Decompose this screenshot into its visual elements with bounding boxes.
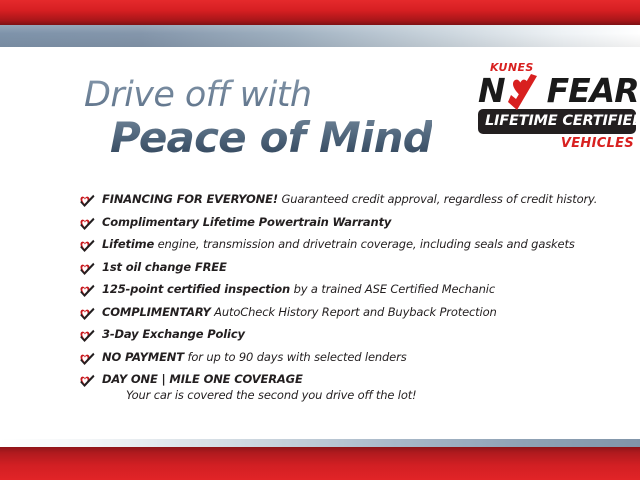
heart-check-icon bbox=[78, 217, 95, 232]
benefit-item: Lifetime engine, transmission and drivet… bbox=[78, 237, 578, 254]
benefit-text: DAY ONE | MILE ONE COVERAGE bbox=[102, 372, 417, 387]
heart-check-icon bbox=[78, 329, 95, 344]
bottom-red-bar bbox=[0, 447, 640, 480]
benefit-item: COMPLIMENTARY AutoCheck History Report a… bbox=[78, 305, 578, 322]
benefit-text-bold: COMPLIMENTARY bbox=[102, 305, 211, 319]
benefit-text: 3-Day Exchange Policy bbox=[102, 327, 245, 342]
benefit-text: 1st oil change FREE bbox=[102, 260, 227, 275]
benefit-text: Lifetime engine, transmission and drivet… bbox=[102, 237, 575, 252]
heart-check-icon bbox=[78, 194, 95, 209]
benefit-text-bold: FINANCING FOR EVERYONE! bbox=[102, 192, 278, 206]
benefits-list: FINANCING FOR EVERYONE! Guaranteed credi… bbox=[78, 192, 578, 409]
logo-lifetime-certified-badge: LIFETIME CERTIFIED bbox=[478, 109, 636, 134]
benefit-text-wrap: 3-Day Exchange Policy bbox=[102, 327, 245, 342]
benefit-item: DAY ONE | MILE ONE COVERAGEYour car is c… bbox=[78, 372, 578, 403]
benefit-text: 125-point certified inspection by a trai… bbox=[102, 282, 495, 297]
benefit-item: 3-Day Exchange Policy bbox=[78, 327, 578, 344]
logo-tagline-vehicles: VEHICLES bbox=[478, 137, 636, 150]
benefit-text: Complimentary Lifetime Powertrain Warran… bbox=[102, 215, 391, 230]
benefit-item: NO PAYMENT for up to 90 days with select… bbox=[78, 350, 578, 367]
benefit-text-bold: Lifetime bbox=[102, 237, 154, 251]
heart-check-icon bbox=[78, 239, 95, 254]
benefit-text-wrap: FINANCING FOR EVERYONE! Guaranteed credi… bbox=[102, 192, 597, 207]
heart-check-icon bbox=[78, 352, 95, 367]
benefit-text-wrap: COMPLIMENTARY AutoCheck History Report a… bbox=[102, 305, 497, 320]
headline-line-1: Drive off with bbox=[84, 78, 432, 113]
heart-check-icon bbox=[78, 374, 95, 389]
benefit-text-bold: DAY ONE | MILE ONE COVERAGE bbox=[102, 372, 303, 386]
benefit-text: COMPLIMENTARY AutoCheck History Report a… bbox=[102, 305, 497, 320]
benefit-text-wrap: Complimentary Lifetime Powertrain Warran… bbox=[102, 215, 391, 230]
benefit-text-rest: AutoCheck History Report and Buyback Pro… bbox=[211, 305, 497, 319]
benefit-item: FINANCING FOR EVERYONE! Guaranteed credi… bbox=[78, 192, 578, 209]
heart-check-icon bbox=[78, 307, 95, 322]
benefit-text-rest: Guaranteed credit approval, regardless o… bbox=[278, 192, 597, 206]
benefit-text: NO PAYMENT for up to 90 days with select… bbox=[102, 350, 407, 365]
no-fear-logo: KUNES N FEAR LIFETIME CERTIFIED VEHICLES bbox=[478, 62, 636, 150]
benefit-text: FINANCING FOR EVERYONE! Guaranteed credi… bbox=[102, 192, 597, 207]
benefit-text-wrap: 125-point certified inspection by a trai… bbox=[102, 282, 495, 297]
benefit-item: 1st oil change FREE bbox=[78, 260, 578, 277]
benefit-item: Complimentary Lifetime Powertrain Warran… bbox=[78, 215, 578, 232]
benefit-text-wrap: 1st oil change FREE bbox=[102, 260, 227, 275]
benefit-text-wrap: DAY ONE | MILE ONE COVERAGEYour car is c… bbox=[102, 372, 417, 403]
benefit-text-bold: Complimentary Lifetime Powertrain Warran… bbox=[102, 215, 391, 229]
bottom-gray-bar bbox=[0, 439, 640, 447]
benefit-text-rest: engine, transmission and drivetrain cove… bbox=[154, 237, 575, 251]
heart-check-icon bbox=[500, 72, 540, 112]
headline: Drive off with Peace of Mind bbox=[84, 78, 432, 159]
benefit-text-bold: 1st oil change FREE bbox=[102, 260, 227, 274]
benefit-text-rest: by a trained ASE Certified Mechanic bbox=[290, 282, 495, 296]
headline-line-2: Peace of Mind bbox=[110, 117, 432, 159]
promo-banner: Drive off with Peace of Mind KUNES N FEA… bbox=[0, 0, 640, 480]
benefit-item: 125-point certified inspection by a trai… bbox=[78, 282, 578, 299]
top-red-bar bbox=[0, 0, 640, 25]
logo-wordmark: N FEAR bbox=[478, 74, 636, 108]
benefit-text-wrap: NO PAYMENT for up to 90 days with select… bbox=[102, 350, 407, 365]
benefit-text-bold: 3-Day Exchange Policy bbox=[102, 327, 245, 341]
benefit-subtext: Your car is covered the second you drive… bbox=[126, 388, 417, 403]
top-gray-bar-shading bbox=[0, 25, 640, 47]
benefit-text-wrap: Lifetime engine, transmission and drivet… bbox=[102, 237, 575, 252]
benefit-text-bold: NO PAYMENT bbox=[102, 350, 184, 364]
heart-check-icon bbox=[78, 284, 95, 299]
benefit-text-rest: for up to 90 days with selected lenders bbox=[184, 350, 407, 364]
benefit-text-bold: 125-point certified inspection bbox=[102, 282, 290, 296]
heart-check-icon bbox=[78, 262, 95, 277]
logo-badge-text: LIFETIME CERTIFIED bbox=[485, 113, 640, 129]
